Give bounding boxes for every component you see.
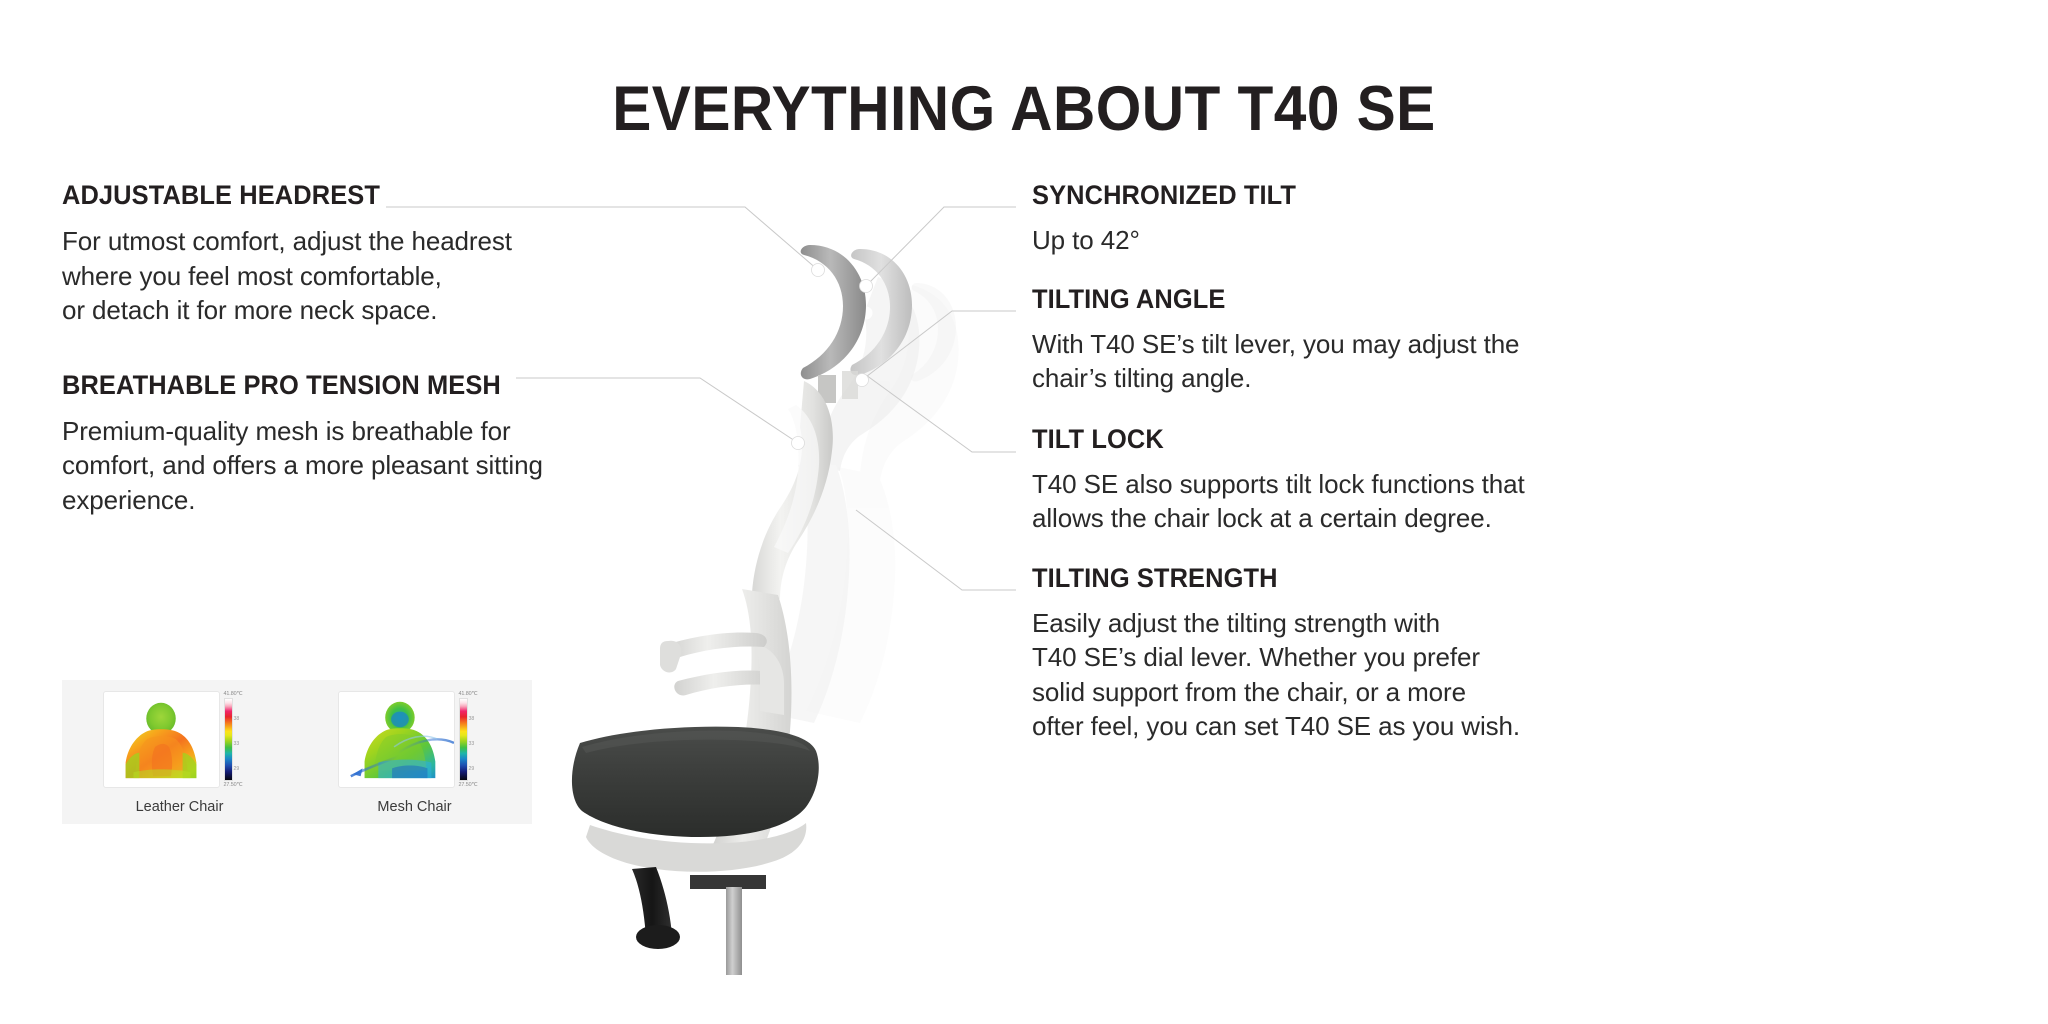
body-line: chair’s tilting angle.: [1032, 361, 1732, 396]
thermal-comparison-panel: 41.80℃ 38 33 29 27.50℃ Leather Chair: [62, 680, 532, 824]
thermal-image-leather-chair: [103, 691, 220, 788]
feature-heading: TILT LOCK: [1032, 424, 1704, 454]
feature-body: Premium-quality mesh is breathable for c…: [62, 414, 702, 518]
scale-tick: 38: [234, 716, 240, 722]
body-line: or detach it for more neck space.: [62, 293, 702, 328]
body-line: allows the chair lock at a certain degre…: [1032, 501, 1732, 536]
thermal-item-leather-chair: 41.80℃ 38 33 29 27.50℃ Leather Chair: [87, 691, 272, 816]
thermal-scale: 41.80℃ 38 33 29 27.50℃: [459, 691, 492, 788]
thermal-item-mesh-chair: 41.80℃ 38 33 29 27.50℃ Mesh Chair: [322, 691, 507, 816]
scale-tick: 29: [469, 766, 475, 772]
thermal-image-mesh-chair: [338, 691, 455, 788]
body-line: experience.: [62, 483, 702, 518]
feature-body: For utmost comfort, adjust the headrest …: [62, 224, 702, 328]
thermal-figure: 41.80℃ 38 33 29 27.50℃: [103, 691, 257, 788]
scale-tick: 33: [234, 741, 240, 747]
scale-max-label: 41.80℃: [224, 691, 243, 697]
body-line: where you feel most comfortable,: [62, 259, 702, 294]
feature-heading: TILTING STRENGTH: [1032, 563, 1704, 593]
scale-min-label: 27.50℃: [224, 782, 243, 788]
body-line: T40 SE also supports tilt lock functions…: [1032, 467, 1732, 502]
scale-tick-labels: 38 33 29: [233, 698, 251, 781]
thermal-scale: 41.80℃ 38 33 29 27.50℃: [224, 691, 257, 788]
feature-body: Easily adjust the tilting strength with …: [1032, 606, 1732, 744]
feature-heading: TILTING ANGLE: [1032, 284, 1704, 314]
body-line: T40 SE’s dial lever. Whether you prefer: [1032, 640, 1732, 675]
right-feature-column: SYNCHRONIZED TILT Up to 42° TILTING ANGL…: [1032, 180, 1732, 744]
feature-breathable-pro-tension-mesh: BREATHABLE PRO TENSION MESH Premium-qual…: [62, 370, 702, 518]
feature-heading: SYNCHRONIZED TILT: [1032, 180, 1704, 210]
feature-body: With T40 SE’s tilt lever, you may adjust…: [1032, 327, 1732, 396]
feature-body: T40 SE also supports tilt lock functions…: [1032, 467, 1732, 536]
body-line: solid support from the chair, or a more: [1032, 675, 1732, 710]
thermal-label: Mesh Chair: [377, 799, 451, 816]
feature-heading: BREATHABLE PRO TENSION MESH: [62, 370, 676, 400]
feature-tilting-strength: TILTING STRENGTH Easily adjust the tilti…: [1032, 563, 1732, 744]
body-line: ofter feel, you can set T40 SE as you wi…: [1032, 709, 1732, 744]
scale-min-label: 27.50℃: [459, 782, 478, 788]
thermal-figure: 41.80℃ 38 33 29 27.50℃: [338, 691, 492, 788]
scale-max-label: 41.80℃: [459, 691, 478, 697]
body-line: For utmost comfort, adjust the headrest: [62, 224, 702, 259]
feature-heading: ADJUSTABLE HEADREST: [62, 180, 676, 210]
scale-tick-labels: 38 33 29: [468, 698, 486, 781]
body-line: Easily adjust the tilting strength with: [1032, 606, 1732, 641]
feature-tilt-lock: TILT LOCK T40 SE also supports tilt lock…: [1032, 424, 1732, 536]
scale-tick: 29: [234, 766, 240, 772]
thermal-label: Leather Chair: [136, 799, 224, 816]
scale-tick: 33: [469, 741, 475, 747]
feature-body: Up to 42°: [1032, 223, 1732, 258]
feature-tilting-angle: TILTING ANGLE With T40 SE’s tilt lever, …: [1032, 284, 1732, 396]
body-line: comfort, and offers a more pleasant sitt…: [62, 448, 702, 483]
scale-gradient-bar: [224, 698, 233, 781]
scale-gradient-bar: [459, 698, 468, 781]
left-feature-column: ADJUSTABLE HEADREST For utmost comfort, …: [62, 180, 702, 517]
body-line: Premium-quality mesh is breathable for: [62, 414, 702, 449]
scale-tick: 38: [469, 716, 475, 722]
body-line: With T40 SE’s tilt lever, you may adjust…: [1032, 327, 1732, 362]
feature-adjustable-headrest: ADJUSTABLE HEADREST For utmost comfort, …: [62, 180, 702, 328]
feature-synchronized-tilt: SYNCHRONIZED TILT Up to 42°: [1032, 180, 1732, 258]
body-line: Up to 42°: [1032, 223, 1732, 258]
page-title: EVERYTHING ABOUT T40 SE: [72, 76, 1977, 142]
